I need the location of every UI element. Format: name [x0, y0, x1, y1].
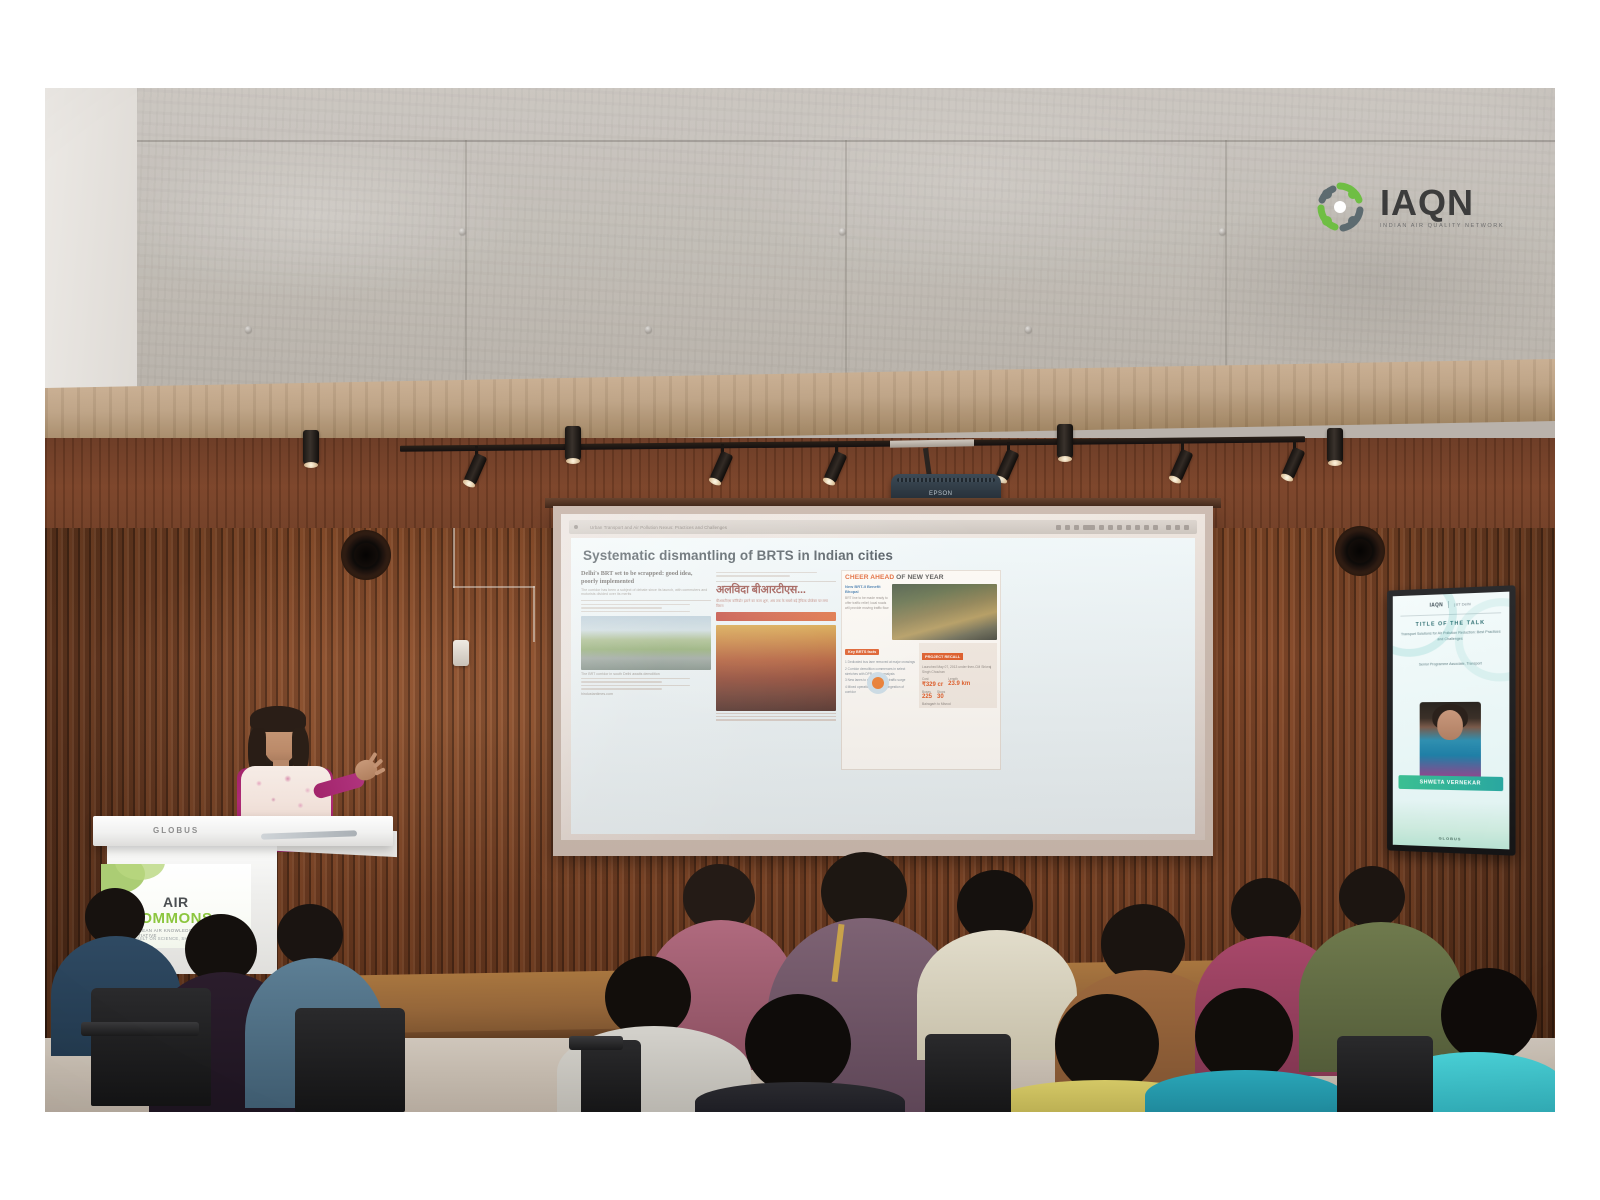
projection-screen-frame: Urban Transport and Air Pollution Nexus:… — [553, 506, 1213, 856]
concrete-beam — [45, 88, 1555, 406]
project-recall-label: PROJECT RECALL — [922, 653, 963, 660]
body-text-line — [716, 572, 817, 573]
close-icon[interactable] — [1184, 525, 1189, 530]
maximize-icon[interactable] — [1175, 525, 1180, 530]
cheer-ahead-headline-grey: OF NEW YEAR — [896, 574, 944, 581]
document-icon — [574, 525, 578, 529]
project-recall-row-2: Buses 225 Stops 30 — [922, 690, 994, 700]
cheer-ahead-headline: CHEER AHEAD OF NEW YEAR — [845, 574, 997, 581]
news-clipping-cheer-ahead: CHEER AHEAD OF NEW YEAR New BRT-II Benef… — [841, 570, 1001, 770]
wall-sensor-box — [453, 640, 469, 666]
news-clipping-row: Delhi's BRT set to be scrapped: good ide… — [581, 570, 1185, 770]
alvida-brts-strip — [716, 612, 836, 621]
wall-speaker-right — [1335, 526, 1385, 576]
badge-dot-icon — [872, 677, 884, 689]
banner-air-text: AIR — [163, 894, 189, 910]
cheer-ahead-headline-orange: CHEER AHEAD — [845, 574, 894, 581]
body-text-line — [716, 713, 836, 714]
signage-footer-brand: GLOBUS — [1439, 836, 1462, 842]
recall-length-value: 23.9 km — [948, 681, 970, 687]
form-tie-bolt-5 — [645, 326, 652, 333]
brts-facts-tag: Key BRTS facts — [845, 649, 879, 655]
iaqn-wordmark: IAQN — [1380, 185, 1504, 221]
page-width-icon[interactable] — [1083, 525, 1095, 530]
cheer-ahead-text-col: New BRT-II Benefit Bhopal BRT line to be… — [845, 584, 889, 640]
body-text-line — [581, 607, 662, 608]
signage-speaker-name: SHWETA VERNEKAR — [1420, 779, 1481, 786]
fit-page-icon[interactable] — [1108, 525, 1113, 530]
delhi-brt-byline: The corridor has been a subject of debat… — [581, 588, 711, 596]
concrete-panel-line-1 — [465, 140, 467, 388]
hanging-cable-drop — [533, 586, 535, 642]
projector-brand-label: EPSON — [929, 491, 953, 497]
audience-head — [277, 904, 343, 966]
podium-logo-text: GLOBUS — [153, 826, 199, 835]
delhi-brt-source: hindustantimes.com — [581, 692, 711, 696]
cheer-ahead-subhead: New BRT-II Benefit Bhopal — [845, 584, 889, 594]
audience-chair — [295, 1008, 405, 1112]
pan-tool-icon[interactable] — [1065, 525, 1070, 530]
audience-head — [1055, 994, 1159, 1094]
ceiling-downlight-3 — [1057, 424, 1073, 458]
concrete-panel-line-2 — [845, 140, 847, 388]
iaqn-logo: IAQN INDIAN AIR QUALITY NETWORK — [1313, 180, 1504, 234]
audience-chair — [581, 1040, 641, 1112]
recall-stops-label: Stops — [937, 690, 945, 694]
iaqn-tagline: INDIAN AIR QUALITY NETWORK — [1380, 224, 1504, 230]
body-text-line — [581, 688, 662, 689]
hanging-cable-horizontal — [453, 586, 535, 588]
form-tie-bolt-3 — [1219, 228, 1226, 235]
delhi-brt-headline: Delhi's BRT set to be scrapped: good ide… — [581, 570, 711, 586]
previous-page-icon[interactable] — [1144, 525, 1149, 530]
form-tie-bolt-6 — [1025, 326, 1032, 333]
news-clipping-delhi-brt: Delhi's BRT set to be scrapped: good ide… — [581, 570, 711, 770]
project-recall-launched: Launched May 07, 2013 under then-CM Shiv… — [922, 665, 994, 675]
chair-armrest — [569, 1036, 623, 1050]
portrait-face — [1437, 710, 1463, 740]
signage-speaker-portrait — [1420, 702, 1481, 777]
ceiling-downlight-1 — [303, 430, 319, 464]
concrete-panel-line-3 — [1225, 140, 1227, 388]
minimize-icon[interactable] — [1166, 525, 1171, 530]
alvida-brts-subtext: बीआरटीएस कॉरिडोर हटाने का काम शुरू, अब त… — [716, 599, 836, 609]
audience-chair — [1337, 1036, 1433, 1112]
delhi-brt-caption: The BRT corridor in south Delhi awaits d… — [581, 672, 711, 676]
presentation-slide: Systematic dismantling of BRTS in Indian… — [571, 538, 1195, 834]
divider — [581, 600, 711, 601]
iaqn-logo-text: IAQN INDIAN AIR QUALITY NETWORK — [1380, 185, 1504, 230]
cheer-ahead-box: CHEER AHEAD OF NEW YEAR New BRT-II Benef… — [841, 570, 1001, 770]
zoom-out-icon[interactable] — [1074, 525, 1079, 530]
viewer-toolbar-buttons[interactable] — [1056, 525, 1158, 530]
audience-chair — [91, 988, 211, 1106]
cheer-ahead-body: New BRT-II Benefit Bhopal BRT line to be… — [845, 584, 997, 640]
window-controls[interactable] — [1166, 525, 1189, 530]
zoom-in-icon[interactable] — [1099, 525, 1104, 530]
cheer-ahead-paragraph: BRT line to be made ready to offer traff… — [845, 596, 889, 610]
audience-head — [1231, 878, 1301, 944]
form-tie-bolt-1 — [459, 228, 466, 235]
alvida-brts-photo — [716, 625, 836, 711]
cheer-ahead-photo — [892, 584, 997, 640]
recall-cost-value: ₹329 cr — [922, 681, 943, 688]
signage-swirl-1 — [1393, 592, 1457, 658]
left-white-wall-slab — [45, 88, 137, 406]
audience-head — [1339, 866, 1405, 928]
alvida-brts-headline: अलविदा बीआरटीएस... — [716, 585, 836, 596]
next-page-icon[interactable] — [1153, 525, 1158, 530]
audience-chair — [925, 1034, 1011, 1112]
signage-swirl-2 — [1455, 596, 1509, 682]
signage-speaker-name-banner: SHWETA VERNEKAR — [1399, 775, 1504, 791]
project-recall-row-1: Cost ₹329 cr Length 23.9 km — [922, 677, 994, 688]
highlight-icon[interactable] — [1135, 525, 1140, 530]
chair-armrest — [81, 1022, 199, 1036]
iaqn-logo-mark-icon — [1313, 180, 1367, 234]
viewer-document-title: Urban Transport and Air Pollution Nexus:… — [590, 525, 727, 530]
body-text-line — [716, 719, 836, 720]
hanging-cable-vertical — [453, 528, 455, 588]
recall-route-note: Bairagarh to Misrod — [922, 702, 994, 707]
recall-buses-label: Buses — [922, 690, 932, 694]
body-text-line — [581, 681, 662, 682]
rotate-icon[interactable] — [1117, 525, 1122, 530]
projector-ceiling-plate — [890, 439, 974, 447]
body-text-line — [581, 685, 690, 686]
body-text-line — [581, 678, 690, 679]
cursor-tool-icon[interactable] — [1056, 525, 1061, 530]
brts-fact-1: 1 Dedicated bus lane removed at major cr… — [845, 660, 915, 665]
wall-speaker-left — [341, 530, 391, 580]
screenshot-root: IAQN INDIAN AIR QUALITY NETWORK EPSON — [0, 0, 1600, 1200]
pdf-viewer-toolbar[interactable]: Urban Transport and Air Pollution Nexus:… — [569, 520, 1197, 534]
recall-stops-value: 30 — [937, 694, 945, 700]
recall-buses-value: 225 — [922, 694, 932, 700]
body-text-line — [716, 575, 790, 576]
audience-head — [745, 994, 851, 1094]
body-text-line — [581, 611, 690, 612]
conference-photograph: IAQN INDIAN AIR QUALITY NETWORK EPSON — [45, 88, 1555, 1112]
body-text-line — [716, 716, 836, 717]
body-text-line — [581, 604, 690, 605]
digital-signage-panel: IAQN | IIT Delhi TITLE OF THE TALK Trans… — [1387, 585, 1515, 856]
divider — [716, 581, 836, 582]
delhi-brt-photo — [581, 616, 711, 670]
ceiling-downlight-4 — [1327, 428, 1343, 462]
news-clipping-alvida-brts: अलविदा बीआरटीएस... बीआरटीएस कॉरिडोर हटान… — [716, 570, 836, 770]
projection-screen-surface: Urban Transport and Air Pollution Nexus:… — [561, 514, 1205, 840]
comment-icon[interactable] — [1126, 525, 1131, 530]
slide-title: Systematic dismantling of BRTS in Indian… — [583, 548, 1185, 563]
signage-footer — [1393, 800, 1510, 850]
form-tie-bolt-2 — [839, 228, 846, 235]
projector-vent — [897, 478, 995, 482]
project-recall-box: PROJECT RECALL Launched May 07, 2013 und… — [919, 643, 997, 708]
form-tie-bolt-4 — [245, 326, 252, 333]
audience-head — [1441, 968, 1537, 1062]
signage-screen: IAQN | IIT Delhi TITLE OF THE TALK Trans… — [1393, 592, 1510, 850]
ceiling-downlight-2 — [565, 426, 581, 460]
